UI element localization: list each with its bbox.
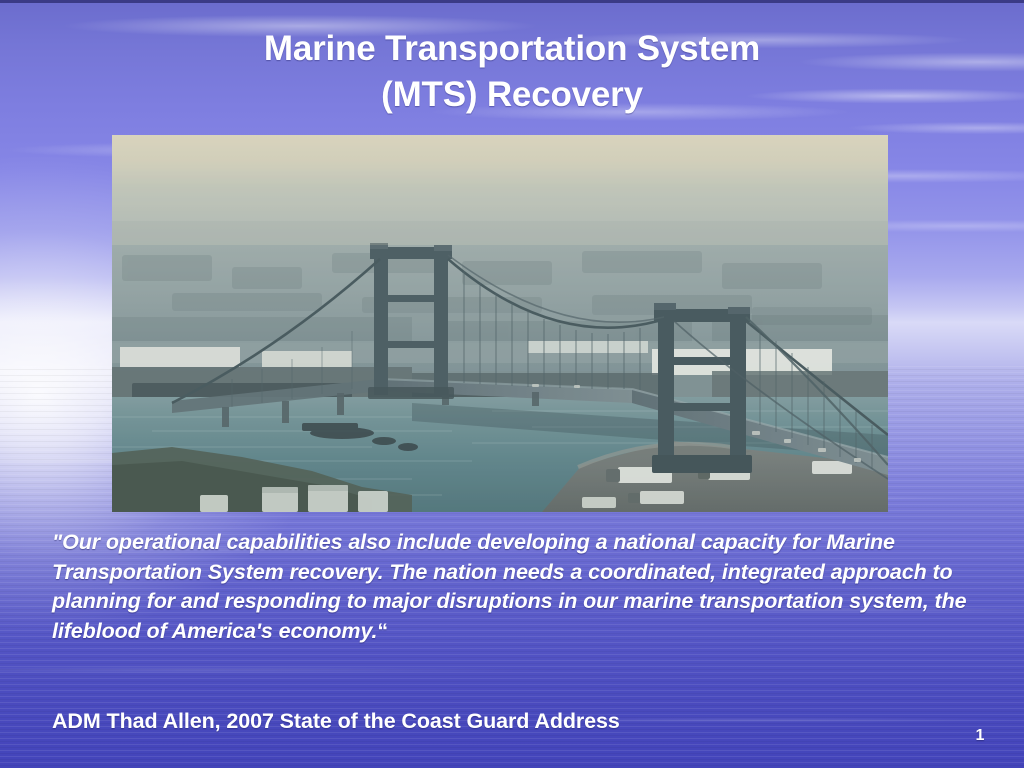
quote-line-5: America's economy. [172, 619, 378, 643]
slide-title-line-1: Marine Transportation System [0, 26, 1024, 72]
slide-title-line-2: (MTS) Recovery [0, 72, 1024, 118]
quote-block: "Our operational capabilities also inclu… [52, 528, 972, 646]
bridge-harbor-photo [112, 135, 888, 512]
presentation-slide: Marine Transportation System (MTS) Recov… [0, 0, 1024, 768]
quote-line-1: Our operational capabilities also includ… [62, 530, 786, 554]
quote-close-mark: “ [377, 619, 388, 643]
quote-attribution: ADM Thad Allen, 2007 State of the Coast … [52, 709, 620, 734]
slide-top-border [0, 0, 1024, 3]
slide-page-number: 1 [968, 727, 992, 745]
slide-title: Marine Transportation System (MTS) Recov… [0, 26, 1024, 118]
quote-open-mark: " [52, 530, 62, 554]
